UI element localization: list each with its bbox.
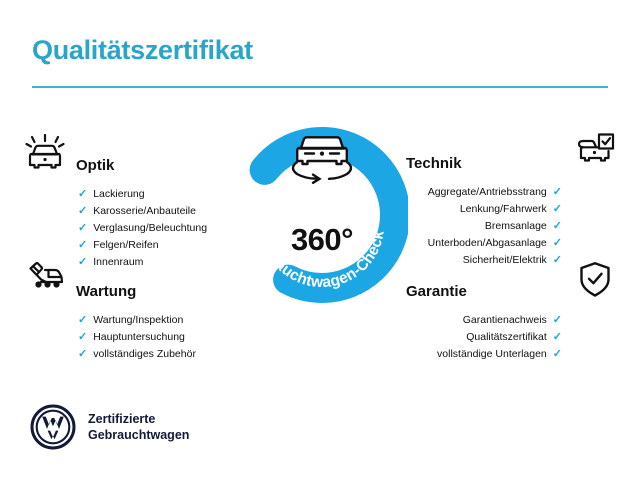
list-item-label: Aggregate/Antriebsstrang <box>428 184 547 201</box>
list-item: ✓vollständiges Zubehör <box>78 346 232 363</box>
vw-footer-text: Zertifizierte Gebrauchtwagen <box>88 411 189 443</box>
shield-check-icon <box>572 258 618 302</box>
check-icon: ✓ <box>547 235 562 252</box>
list-item-label: Felgen/Reifen <box>93 237 158 254</box>
list-item: ✓Garantienachweis <box>406 312 562 329</box>
list-item-label: vollständige Unterlagen <box>437 346 547 363</box>
check-icon: ✓ <box>78 220 93 237</box>
badge-degrees-label: 360° <box>236 222 408 258</box>
list-item-label: Lackierung <box>93 186 144 203</box>
list-item-label: Qualitätszertifikat <box>466 329 547 346</box>
list-item: ✓Verglasung/Beleuchtung <box>78 220 232 237</box>
vw-footer-line1: Zertifizierte <box>88 412 155 426</box>
check-icon: ✓ <box>78 329 93 346</box>
list-item-label: vollständiges Zubehör <box>93 346 196 363</box>
checklist-wartung: ✓Wartung/Inspektion ✓Hauptuntersuchung ✓… <box>22 312 232 363</box>
list-item-label: Lenkung/Fahrwerk <box>460 201 547 218</box>
section-wartung: Wartung ✓Wartung/Inspektion ✓Hauptunters… <box>22 256 232 363</box>
list-item: ✓Lenkung/Fahrwerk <box>406 201 562 218</box>
list-item: ✓Wartung/Inspektion <box>78 312 232 329</box>
title-divider <box>32 86 608 88</box>
list-item: ✓Felgen/Reifen <box>78 237 232 254</box>
check-icon: ✓ <box>547 201 562 218</box>
check-icon: ✓ <box>547 312 562 329</box>
check-icon: ✓ <box>547 184 562 201</box>
check-icon: ✓ <box>78 346 93 363</box>
list-item: ✓Qualitätszertifikat <box>406 329 562 346</box>
check-icon: ✓ <box>78 312 93 329</box>
list-item-label: Garantienachweis <box>463 312 547 329</box>
vw-logo <box>30 404 76 450</box>
list-item: ✓vollständige Unterlagen <box>406 346 562 363</box>
section-title-wartung: Wartung <box>68 283 136 300</box>
page-title: Qualitätszertifikat <box>32 35 253 66</box>
list-item-label: Verglasung/Beleuchtung <box>93 220 207 237</box>
check-icon: ✓ <box>547 218 562 235</box>
car-shine-icon <box>22 132 68 176</box>
vw-footer-line2: Gebrauchtwagen <box>88 428 189 442</box>
list-item: ✓Hauptuntersuchung <box>78 329 232 346</box>
check-icon: ✓ <box>547 346 562 363</box>
section-garantie: Garantie ✓Garantienachweis ✓Qualitätszer… <box>406 256 618 363</box>
check-icon: ✓ <box>547 329 562 346</box>
section-title-garantie: Garantie <box>406 283 475 300</box>
list-item-label: Wartung/Inspektion <box>93 312 183 329</box>
section-title-optik: Optik <box>68 157 114 174</box>
list-item-label: Bremsanlage <box>485 218 547 235</box>
list-item: ✓Lackierung <box>78 186 232 203</box>
checklist-garantie: ✓Garantienachweis ✓Qualitätszertifikat ✓… <box>406 312 618 363</box>
check-icon: ✓ <box>78 237 93 254</box>
list-item-label: Unterboden/Abgasanlage <box>428 235 547 252</box>
car-service-pen-icon <box>22 258 68 302</box>
list-item: ✓Karosserie/Anbauteile <box>78 203 232 220</box>
section-title-technik: Technik <box>406 155 470 172</box>
check-icon: ✓ <box>78 186 93 203</box>
section-technik: Technik ✓Aggregate/Antriebsstrang ✓Lenku… <box>406 128 618 269</box>
car-checkbox-icon <box>572 130 618 174</box>
section-optik: Optik ✓Lackierung ✓Karosserie/Anbauteile… <box>22 130 232 271</box>
list-item-label: Karosserie/Anbauteile <box>93 203 196 220</box>
list-item-label: Hauptuntersuchung <box>93 329 185 346</box>
list-item: ✓Unterboden/Abgasanlage <box>406 235 562 252</box>
vw-footer-branding: Zertifizierte Gebrauchtwagen <box>30 404 189 450</box>
list-item: ✓Bremsanlage <box>406 218 562 235</box>
check-icon: ✓ <box>78 203 93 220</box>
badge-360-gebrauchtwagen-check: Gebrauchtwagen-Check 360° <box>236 118 408 318</box>
list-item: ✓Aggregate/Antriebsstrang <box>406 184 562 201</box>
